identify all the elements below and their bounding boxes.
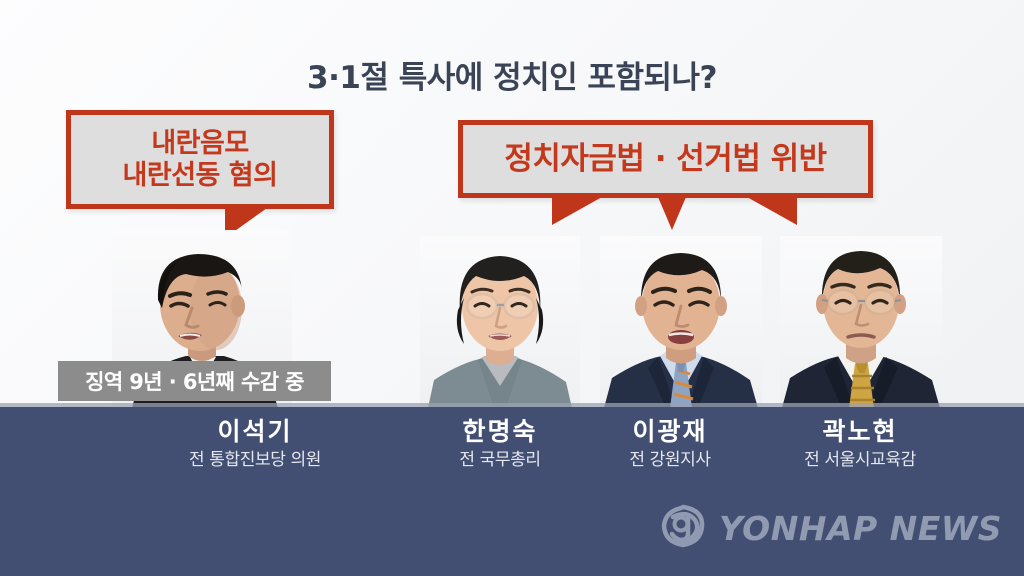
portrait-photo-3	[600, 236, 762, 408]
sentence-status-label: 징역 9년 · 6년째 수감 중	[58, 361, 331, 401]
news-graphic: 3·1절 특사에 정치인 포함되나? 내란음모 내란선동 혐의 정치자금법 · …	[0, 0, 1024, 576]
charge-banner-left-line-2: 내란선동 혐의	[123, 160, 278, 192]
person-name-4: 곽노현	[758, 418, 962, 446]
portrait-photo-4	[780, 236, 942, 408]
person-title-1: 전 통합진보당 의원	[130, 449, 380, 472]
watermark: YONHAP NEWS	[657, 500, 1002, 556]
callout-tail-right-2	[658, 197, 686, 230]
charge-banner-right: 정치자금법 · 선거법 위반	[458, 120, 873, 198]
person-name-2: 한명숙	[410, 418, 590, 446]
person-title-2: 전 국무총리	[410, 449, 590, 472]
person-label-4: 곽노현 전 서울시교육감	[758, 418, 962, 472]
person-name-1: 이석기	[130, 418, 380, 446]
page-title: 3·1절 특사에 정치인 포함되나?	[0, 52, 1024, 97]
watermark-text: YONHAP NEWS	[719, 509, 1002, 548]
person-name-3: 이광재	[580, 418, 760, 446]
person-title-4: 전 서울시교육감	[758, 449, 962, 472]
charge-banner-right-line-1: 정치자금법 · 선거법 위반	[504, 141, 826, 178]
yonhap-swirl-logo-icon	[657, 500, 709, 556]
charge-banner-left-line-1: 내란음모	[151, 128, 248, 160]
person-label-1: 이석기 전 통합진보당 의원	[130, 418, 380, 472]
callout-tail-right-1	[552, 197, 602, 225]
portrait-photo-2	[420, 236, 580, 408]
charge-banner-left: 내란음모 내란선동 혐의	[66, 110, 334, 209]
person-title-3: 전 강원지사	[580, 449, 760, 472]
callout-tail-right-3	[747, 197, 797, 225]
person-label-3: 이광재 전 강원지사	[580, 418, 760, 472]
person-label-2: 한명숙 전 국무총리	[410, 418, 590, 472]
